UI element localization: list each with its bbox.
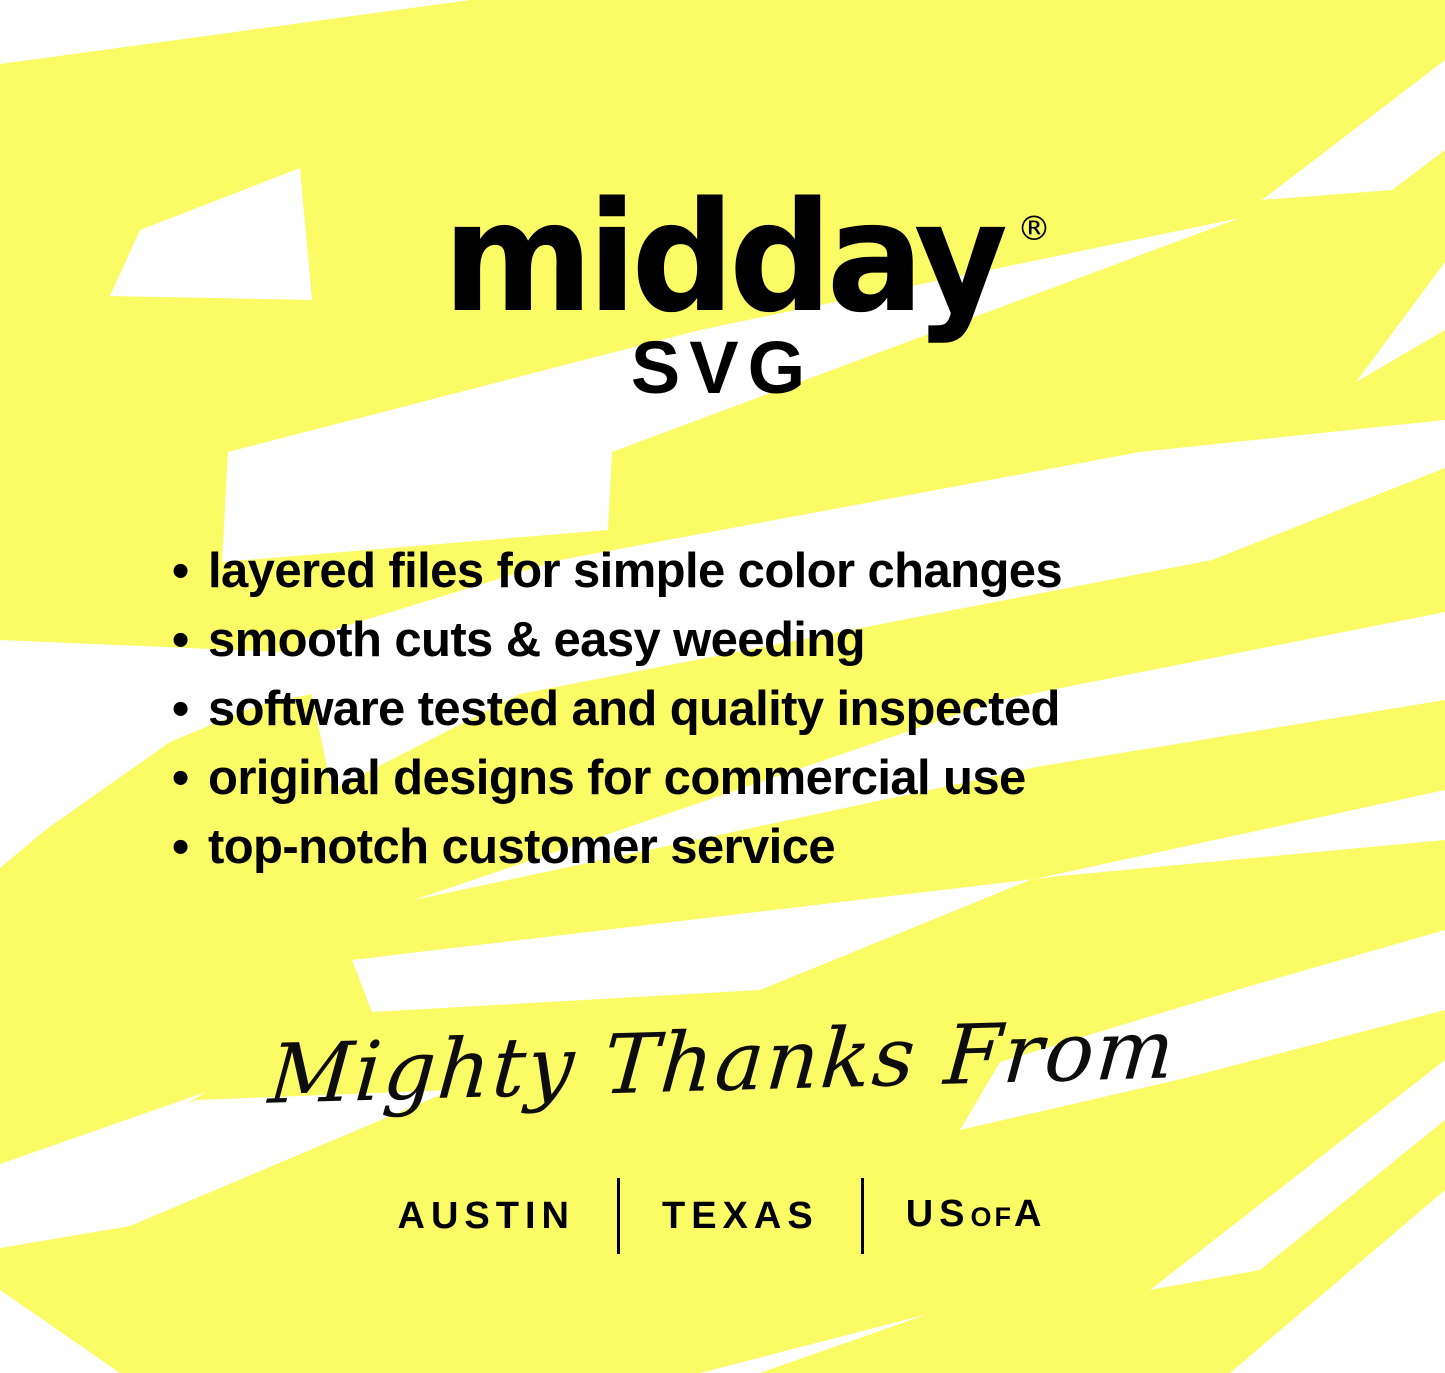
location-state: TEXAS <box>620 1178 861 1254</box>
thank-you-script: Mighty Thanks From <box>0 992 1445 1135</box>
feature-text: layered files for simple color changes <box>208 544 1062 598</box>
bullet-icon: • <box>172 537 189 606</box>
list-item: • original designs for commercial use <box>172 744 1352 813</box>
brand-wordmark-wrapper: midday ® <box>428 196 1017 321</box>
registered-trademark-icon: ® <box>1017 212 1051 246</box>
feature-text: software tested and quality inspected <box>208 682 1060 736</box>
location-city: AUSTIN <box>356 1178 617 1254</box>
brand-block: midday ® SVG <box>0 196 1445 405</box>
country-prefix: US <box>906 1193 971 1235</box>
location-row: AUSTIN TEXAS USOFA <box>0 1176 1445 1255</box>
list-item: • layered files for simple color changes <box>172 537 1352 606</box>
brand-wordmark: midday <box>443 196 1003 321</box>
feature-text: top-notch customer service <box>208 820 835 874</box>
location-country: USOFA <box>864 1176 1090 1255</box>
list-item: • top-notch customer service <box>172 813 1352 882</box>
promo-content: midday ® SVG • layered files for simple … <box>0 0 1445 1373</box>
bullet-icon: • <box>172 744 189 813</box>
feature-text: smooth cuts & easy weeding <box>208 613 865 667</box>
feature-text: original designs for commercial use <box>208 751 1026 805</box>
country-middle: OF <box>971 1202 1015 1232</box>
country-suffix: A <box>1014 1193 1047 1235</box>
bullet-icon: • <box>172 606 189 675</box>
bullet-icon: • <box>172 813 189 882</box>
promo-graphic-canvas: midday ® SVG • layered files for simple … <box>0 0 1445 1373</box>
list-item: • smooth cuts & easy weeding <box>172 606 1352 675</box>
list-item: • software tested and quality inspected <box>172 675 1352 744</box>
bullet-icon: • <box>172 675 189 744</box>
feature-list: • layered files for simple color changes… <box>172 537 1352 882</box>
